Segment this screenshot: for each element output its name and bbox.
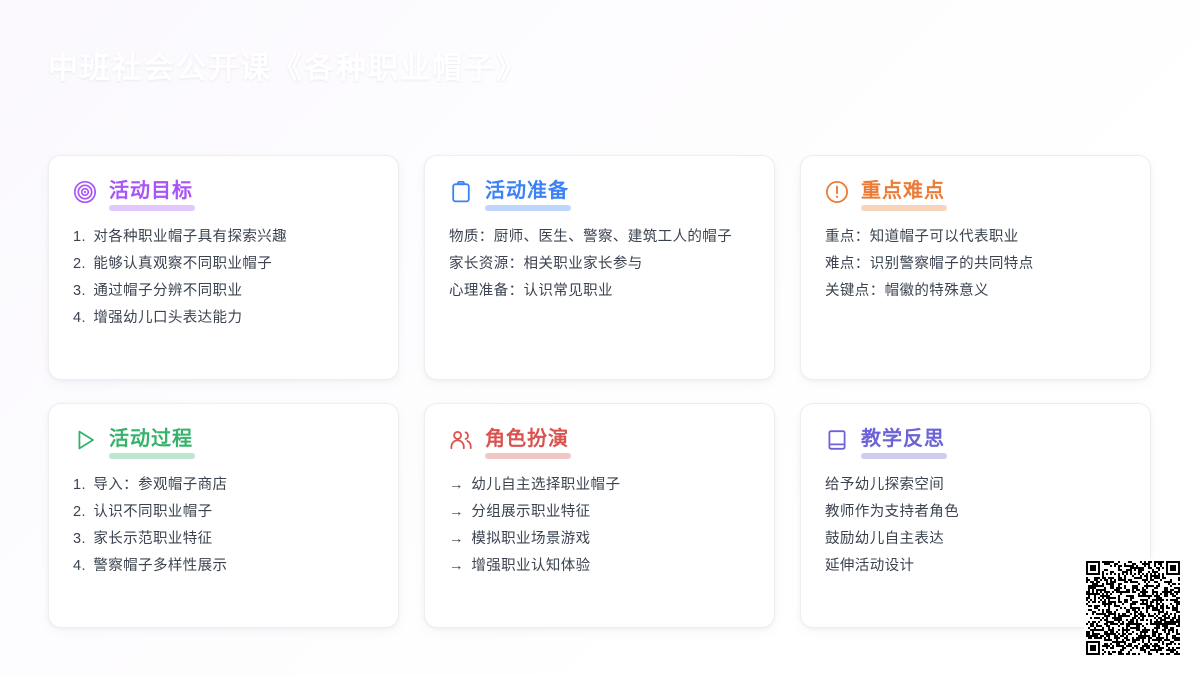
book-icon bbox=[825, 428, 849, 452]
card-body: 重点：知道帽子可以代表职业难点：识别警察帽子的共同特点关键点：帽徽的特殊意义 bbox=[825, 224, 1126, 305]
list-item: → 幼儿自主选择职业帽子 bbox=[449, 472, 750, 499]
qr-code[interactable] bbox=[1084, 559, 1182, 657]
list-item-text: 关键点：帽徽的特殊意义 bbox=[825, 283, 989, 299]
list-item-marker: 3. bbox=[73, 531, 86, 547]
list-item: 物质：厨师、医生、警察、建筑工人的帽子 bbox=[449, 224, 750, 251]
list-item: 难点：识别警察帽子的共同特点 bbox=[825, 251, 1126, 278]
play-triangle-icon bbox=[73, 428, 97, 452]
card-title: 活动过程 bbox=[109, 426, 193, 454]
card-role-play: 角色扮演→ 幼儿自主选择职业帽子→ 分组展示职业特征→ 模拟职业场景游戏→ 增强… bbox=[424, 403, 775, 628]
list-item: 关键点：帽徽的特殊意义 bbox=[825, 278, 1126, 305]
card-title: 教学反思 bbox=[861, 426, 945, 454]
list-item: → 分组展示职业特征 bbox=[449, 499, 750, 526]
list-item-text: 增强幼儿口头表达能力 bbox=[93, 310, 242, 326]
list-item: 重点：知道帽子可以代表职业 bbox=[825, 224, 1126, 251]
list-item-text: 家长示范职业特征 bbox=[93, 531, 212, 547]
list-item-text: 延伸活动设计 bbox=[825, 558, 914, 574]
list-item-text: 给予幼儿探索空间 bbox=[825, 477, 944, 493]
list-item: 1. 导入：参观帽子商店 bbox=[73, 472, 374, 499]
users-icon bbox=[449, 428, 473, 452]
list-item-text: 对各种职业帽子具有探索兴趣 bbox=[93, 229, 287, 245]
list-item: 4. 警察帽子多样性展示 bbox=[73, 553, 374, 580]
card-header: 活动目标 bbox=[73, 178, 374, 206]
card-body: 1. 导入：参观帽子商店2. 认识不同职业帽子3. 家长示范职业特征4. 警察帽… bbox=[73, 472, 374, 580]
list-item: 延伸活动设计 bbox=[825, 553, 1126, 580]
list-item: 4. 增强幼儿口头表达能力 bbox=[73, 305, 374, 332]
page-title: 中班社会公开课《各种职业帽子》 bbox=[48, 48, 528, 90]
list-item: 3. 家长示范职业特征 bbox=[73, 526, 374, 553]
card-activity-preparation: 活动准备物质：厨师、医生、警察、建筑工人的帽子家长资源：相关职业家长参与心理准备… bbox=[424, 155, 775, 380]
list-item-text: 幼儿自主选择职业帽子 bbox=[471, 477, 620, 493]
card-header: 角色扮演 bbox=[449, 426, 750, 454]
clipboard-icon bbox=[449, 180, 473, 204]
list-item-marker: → bbox=[449, 477, 464, 493]
list-item: 给予幼儿探索空间 bbox=[825, 472, 1126, 499]
card-title: 活动准备 bbox=[485, 178, 569, 206]
card-header: 重点难点 bbox=[825, 178, 1126, 206]
list-item-marker: 4. bbox=[73, 310, 86, 326]
card-title: 角色扮演 bbox=[485, 426, 569, 454]
list-item-text: 重点：知道帽子可以代表职业 bbox=[825, 229, 1019, 245]
list-item-text: 难点：识别警察帽子的共同特点 bbox=[825, 256, 1034, 272]
list-item-text: 教师作为支持者角色 bbox=[825, 504, 959, 520]
card-title: 活动目标 bbox=[109, 178, 193, 206]
list-item-text: 分组展示职业特征 bbox=[471, 504, 590, 520]
list-item-text: 导入：参观帽子商店 bbox=[93, 477, 227, 493]
list-item-marker: → bbox=[449, 531, 464, 547]
list-item-text: 模拟职业场景游戏 bbox=[471, 531, 590, 547]
card-header: 活动准备 bbox=[449, 178, 750, 206]
list-item-marker: 2. bbox=[73, 504, 86, 520]
list-item-marker: 4. bbox=[73, 558, 86, 574]
list-item: 心理准备：认识常见职业 bbox=[449, 278, 750, 305]
card-body: → 幼儿自主选择职业帽子→ 分组展示职业特征→ 模拟职业场景游戏→ 增强职业认知… bbox=[449, 472, 750, 580]
list-item: → 模拟职业场景游戏 bbox=[449, 526, 750, 553]
qr-code-image bbox=[1086, 561, 1180, 655]
list-item: 2. 能够认真观察不同职业帽子 bbox=[73, 251, 374, 278]
card-body: 1. 对各种职业帽子具有探索兴趣2. 能够认真观察不同职业帽子3. 通过帽子分辨… bbox=[73, 224, 374, 332]
list-item-marker: 1. bbox=[73, 229, 86, 245]
list-item-text: 心理准备：认识常见职业 bbox=[449, 283, 613, 299]
card-body: 物质：厨师、医生、警察、建筑工人的帽子家长资源：相关职业家长参与心理准备：认识常… bbox=[449, 224, 750, 305]
list-item: 鼓励幼儿自主表达 bbox=[825, 526, 1126, 553]
list-item-text: 增强职业认知体验 bbox=[471, 558, 590, 574]
list-item-marker: 3. bbox=[73, 283, 86, 299]
list-item: 家长资源：相关职业家长参与 bbox=[449, 251, 750, 278]
list-item-marker: → bbox=[449, 504, 464, 520]
list-item-text: 鼓励幼儿自主表达 bbox=[825, 531, 944, 547]
card-activity-process: 活动过程1. 导入：参观帽子商店2. 认识不同职业帽子3. 家长示范职业特征4.… bbox=[48, 403, 399, 628]
list-item: 2. 认识不同职业帽子 bbox=[73, 499, 374, 526]
card-activity-goals: 活动目标1. 对各种职业帽子具有探索兴趣2. 能够认真观察不同职业帽子3. 通过… bbox=[48, 155, 399, 380]
list-item: 3. 通过帽子分辨不同职业 bbox=[73, 278, 374, 305]
list-item: → 增强职业认知体验 bbox=[449, 553, 750, 580]
card-key-points-difficulties: 重点难点重点：知道帽子可以代表职业难点：识别警察帽子的共同特点关键点：帽徽的特殊… bbox=[800, 155, 1151, 380]
list-item: 教师作为支持者角色 bbox=[825, 499, 1126, 526]
list-item-text: 家长资源：相关职业家长参与 bbox=[449, 256, 643, 272]
list-item-text: 能够认真观察不同职业帽子 bbox=[93, 256, 272, 272]
card-title: 重点难点 bbox=[861, 178, 945, 206]
card-header: 教学反思 bbox=[825, 426, 1126, 454]
card-grid: 活动目标1. 对各种职业帽子具有探索兴趣2. 能够认真观察不同职业帽子3. 通过… bbox=[48, 155, 1152, 628]
list-item-text: 通过帽子分辨不同职业 bbox=[93, 283, 242, 299]
target-icon bbox=[73, 180, 97, 204]
list-item-text: 认识不同职业帽子 bbox=[93, 504, 212, 520]
list-item-marker: → bbox=[449, 558, 464, 574]
list-item-marker: 2. bbox=[73, 256, 86, 272]
card-header: 活动过程 bbox=[73, 426, 374, 454]
list-item-text: 物质：厨师、医生、警察、建筑工人的帽子 bbox=[449, 229, 732, 245]
alert-circle-icon bbox=[825, 180, 849, 204]
card-body: 给予幼儿探索空间教师作为支持者角色鼓励幼儿自主表达延伸活动设计 bbox=[825, 472, 1126, 580]
list-item: 1. 对各种职业帽子具有探索兴趣 bbox=[73, 224, 374, 251]
list-item-text: 警察帽子多样性展示 bbox=[93, 558, 227, 574]
list-item-marker: 1. bbox=[73, 477, 86, 493]
